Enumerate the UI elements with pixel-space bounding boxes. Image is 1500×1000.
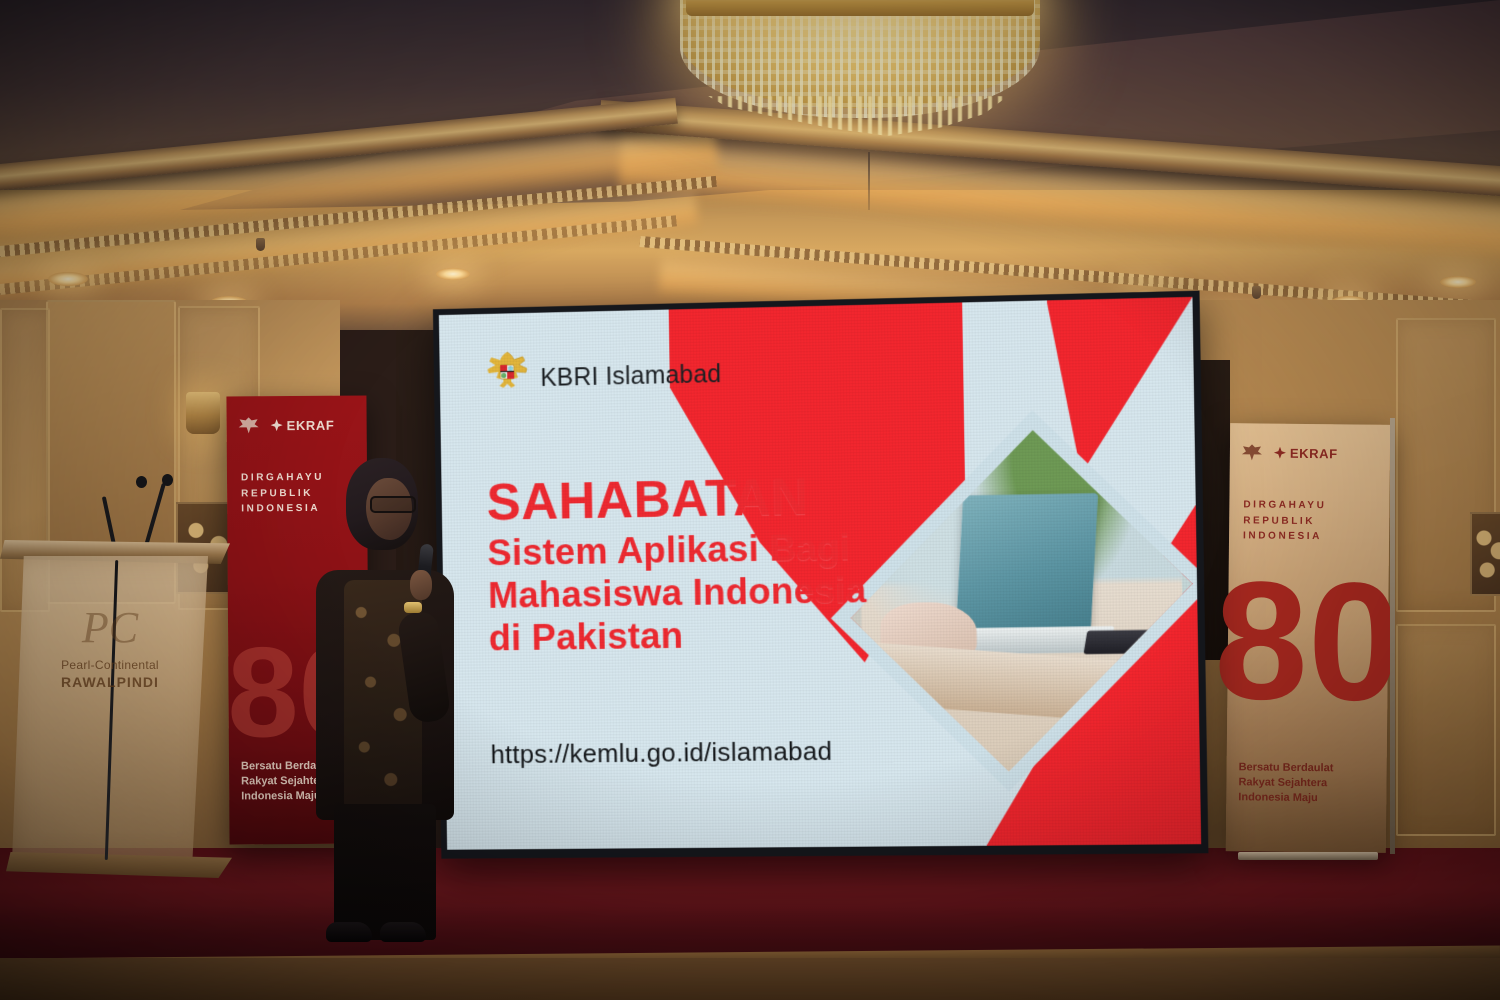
rollup-banner-right: EKRAF DIRGAHAYU REPUBLIK INDONESIA 80 Be… (1226, 423, 1390, 853)
banner-right-base (1238, 852, 1378, 860)
shoe-left (326, 922, 372, 942)
hotel-name: Pearl-Continental (44, 658, 176, 672)
banner-right-tagline: Bersatu Berdaulat Rakyat Sejahtera Indon… (1238, 761, 1378, 807)
ekraf-logo-right: EKRAF (1274, 445, 1338, 461)
banner-right-dirgahayu-2: REPUBLIK (1243, 513, 1326, 529)
chandelier-suspension-cable (868, 152, 870, 210)
ceiling-downlight-6 (1440, 276, 1476, 288)
floor-front (0, 958, 1500, 1000)
wristwatch (404, 602, 422, 613)
banner-right-tagline-2: Rakyat Sejahtera (1238, 776, 1378, 792)
chandelier-gold-rim (686, 0, 1034, 16)
garuda-emblem-icon (237, 415, 261, 435)
slide-subtitle-line-1: Sistem Aplikasi Bagi (487, 528, 866, 571)
laptop-screen (956, 493, 1098, 632)
banner-right-dirgahayu-1: DIRGAHAYU (1243, 497, 1326, 513)
banner-right-tagline-3: Indonesia Maju (1238, 790, 1378, 806)
ekraf-mark-icon (271, 419, 283, 431)
banner-left-logo-row: EKRAF (237, 410, 359, 441)
led-presentation-screen: KBRI Islamabad SAHABATAN Sistem Aplikasi… (433, 291, 1209, 859)
hotel-city: RAWALPINDI (44, 674, 176, 690)
slide-subtitle-line-3: di Pakistan (489, 614, 868, 656)
ceiling-downlight-3 (436, 268, 470, 280)
speaker-presenter (300, 452, 464, 940)
conference-hall-photo: EKRAF DIRGAHAYU REPUBLIK INDONESIA 80 Be… (0, 0, 1500, 1000)
ekraf-label-left: EKRAF (287, 417, 335, 432)
podium-hotel-branding: PC Pearl-Continental RAWALPINDI (44, 608, 176, 690)
slide-title: SAHABATAN (486, 470, 865, 529)
slide-subtitle-line-2: Mahasiswa Indonesia (488, 571, 867, 614)
ekraf-label-right: EKRAF (1290, 445, 1338, 460)
ekraf-mark-icon (1274, 447, 1286, 459)
garuda-emblem-icon (1240, 442, 1264, 462)
banner-right-dirgahayu-3: INDONESIA (1243, 528, 1326, 544)
microphone-head-1 (162, 474, 173, 486)
legs-trousers (334, 804, 436, 940)
crystal-chandelier (650, 0, 1070, 168)
shoe-right (380, 922, 426, 942)
slide-org-label: KBRI Islamabad (540, 360, 721, 393)
eyeglasses (370, 496, 416, 513)
microphone-head-2 (136, 476, 147, 488)
wall-sconce-left (186, 392, 220, 434)
sprinkler-head-right (1252, 286, 1261, 299)
carved-wall-ornament-right (1470, 512, 1500, 596)
sprinkler-head-left (256, 238, 265, 251)
chandelier-crystal-drops (708, 96, 1008, 136)
wall-panel-right-2 (1396, 624, 1496, 836)
hotel-monogram: PC (44, 608, 176, 648)
banner-right-pole (1390, 418, 1395, 854)
slide-url: https://kemlu.go.id/islamabad (490, 736, 832, 770)
slide-headline-block: SAHABATAN Sistem Aplikasi Bagi Mahasiswa… (486, 470, 867, 656)
banner-right-logo-row: EKRAF (1240, 437, 1382, 468)
hand (410, 570, 432, 600)
slide-surface: KBRI Islamabad SAHABATAN Sistem Aplikasi… (439, 297, 1201, 850)
banner-right-dirgahayu-block: DIRGAHAYU REPUBLIK INDONESIA (1243, 497, 1327, 544)
ceiling-downlight-1 (48, 272, 88, 286)
banner-right-tagline-1: Bersatu Berdaulat (1239, 761, 1379, 777)
ekraf-logo-left: EKRAF (271, 417, 335, 432)
banner-right-anniversary-number: 80 (1214, 573, 1402, 709)
garuda-pancasila-emblem (485, 348, 529, 400)
